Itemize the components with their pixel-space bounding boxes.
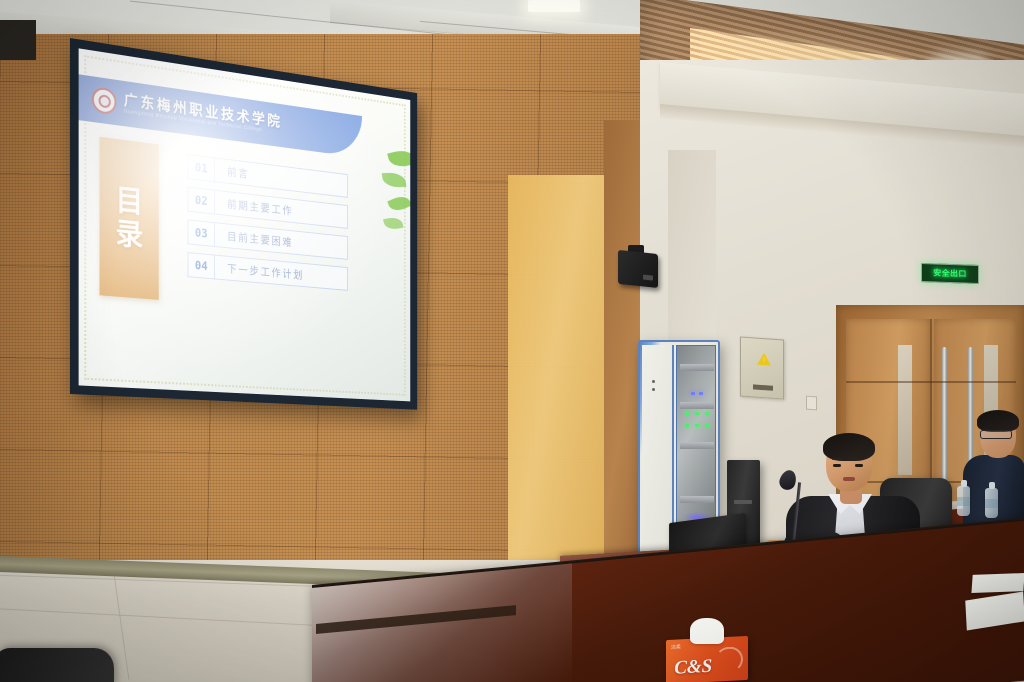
rack-led-blue-2	[699, 392, 703, 395]
ceiling-light-1	[528, 0, 580, 12]
tissue-sheet-foreground	[690, 618, 724, 644]
tissue-arc-foreground	[715, 646, 743, 674]
toc-number-01: 01	[188, 155, 214, 181]
wall-speaker	[618, 250, 658, 288]
school-logo-icon	[92, 86, 116, 115]
door-handle-left[interactable]	[942, 347, 947, 497]
rack-shelf-2	[680, 402, 714, 409]
warning-triangle-icon	[757, 353, 771, 366]
toc-side-block: 01 目 录	[100, 137, 159, 300]
attendee-hair	[977, 410, 1019, 432]
rack-shelf-1	[680, 364, 714, 371]
foreground-chair[interactable]	[0, 648, 114, 682]
toc-text-03: 目前主要困难	[215, 223, 347, 259]
presenter-eye-right	[855, 464, 863, 467]
wall-shadow-corner	[0, 20, 36, 60]
rack-door-screw-2	[652, 388, 655, 391]
rack-led-blue-1	[691, 392, 695, 395]
rack-led-green-4	[685, 424, 689, 427]
rack-led-green-6	[705, 424, 709, 427]
toc-text-02: 前期主要工作	[215, 191, 347, 228]
projected-slide: 广东梅州职业技术学院 Guangdong Meizhou Vocational …	[79, 48, 411, 401]
school-logo-inner-ring	[98, 93, 110, 108]
toc-item-04[interactable]: 04 下一步工作计划	[188, 252, 348, 291]
presenter-brow-right	[854, 458, 864, 460]
toc-list: 01 前言 02 前期主要工作 03 目前主要困难 04 下一步工作计划	[188, 154, 348, 298]
toc-number-04: 04	[188, 253, 214, 278]
presenter-brow-left	[832, 458, 842, 460]
exit-sign-label: 安全出口	[933, 267, 967, 279]
toc-label-char-mu: 目	[115, 185, 143, 221]
presenter-mouth	[843, 477, 855, 481]
emergency-exit-sign: 安全出口	[921, 263, 979, 284]
electrical-panel	[740, 336, 784, 399]
toc-text-04: 下一步工作计划	[215, 256, 347, 290]
presenter-eye-left	[833, 464, 841, 467]
panel-label-strip	[753, 384, 773, 390]
door-vision-panel-left	[898, 345, 912, 475]
water-bottle-1	[957, 486, 970, 516]
wall-outlet	[806, 396, 817, 411]
water-bottle-2	[985, 488, 998, 518]
paper-foreground-2[interactable]	[971, 573, 1024, 593]
toc-number-02: 02	[188, 188, 214, 214]
rack-door-screw-1	[652, 380, 655, 383]
conference-room-scene: 安全出口	[0, 0, 1024, 682]
rack-led-green-1	[685, 412, 689, 415]
toc-label-char-lu: 录	[115, 218, 143, 254]
presenter-hair	[823, 433, 875, 461]
projection-screen: 广东梅州职业技术学院 Guangdong Meizhou Vocational …	[70, 38, 417, 410]
attendee-glasses	[980, 430, 1012, 439]
rack-led-green-3	[705, 412, 709, 415]
rack-shelf-4	[680, 496, 714, 503]
rack-shelf-3	[680, 442, 714, 449]
toc-number-03: 03	[188, 220, 214, 246]
wall-column-yellow	[508, 175, 604, 595]
tissue-brand-foreground: C&S	[674, 656, 712, 680]
tissue-sub-label-fg: 洁柔	[671, 644, 681, 652]
rack-led-green-2	[695, 412, 699, 415]
rack-led-green-5	[695, 424, 699, 427]
